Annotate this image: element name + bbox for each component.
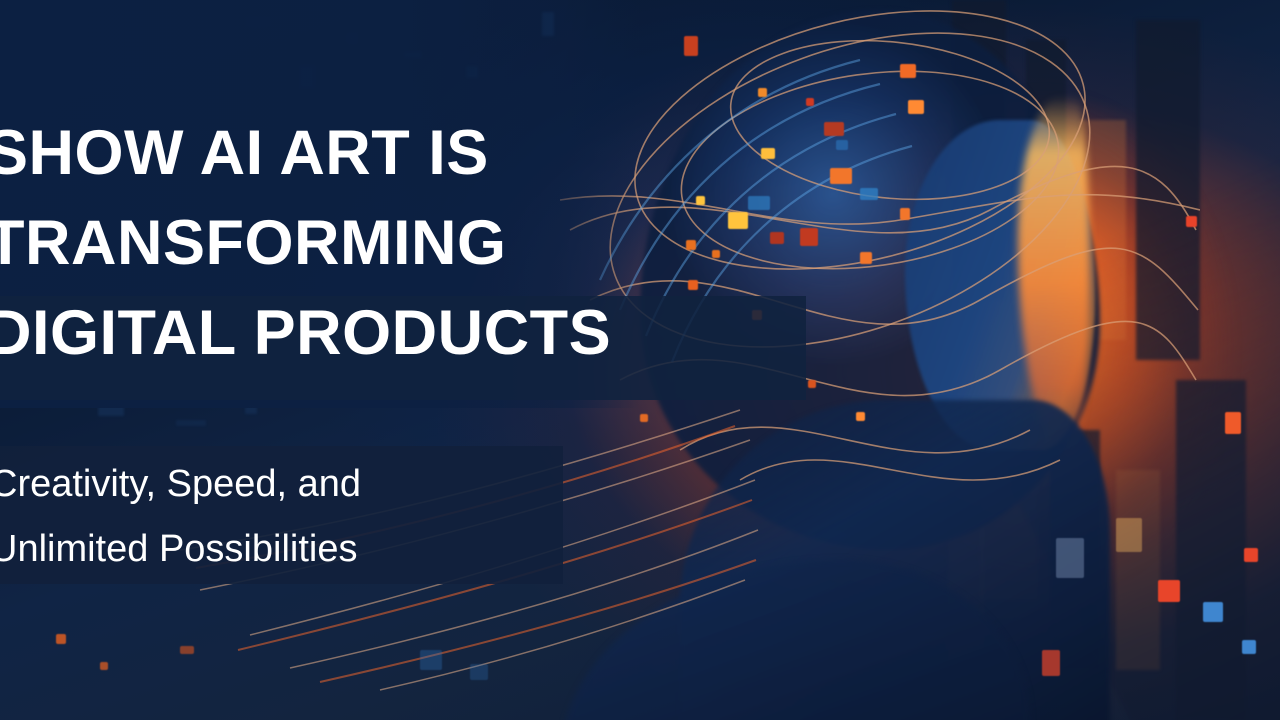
subtitle-line-1: Creativity, Speed, and xyxy=(0,452,630,517)
headline-line-1: SHOW AI ART IS xyxy=(0,108,846,198)
page-title: SHOW AI ART IS TRANSFORMING DIGITAL PROD… xyxy=(0,108,846,378)
headline-line-3: DIGITAL PRODUCTS xyxy=(0,288,846,378)
hero-banner: SHOW AI ART IS TRANSFORMING DIGITAL PROD… xyxy=(0,0,1280,720)
subtitle-line-2: Unlimited Possibilities xyxy=(0,517,630,582)
headline-line-2: TRANSFORMING xyxy=(0,198,846,288)
page-subtitle: Creativity, Speed, and Unlimited Possibi… xyxy=(0,452,630,582)
